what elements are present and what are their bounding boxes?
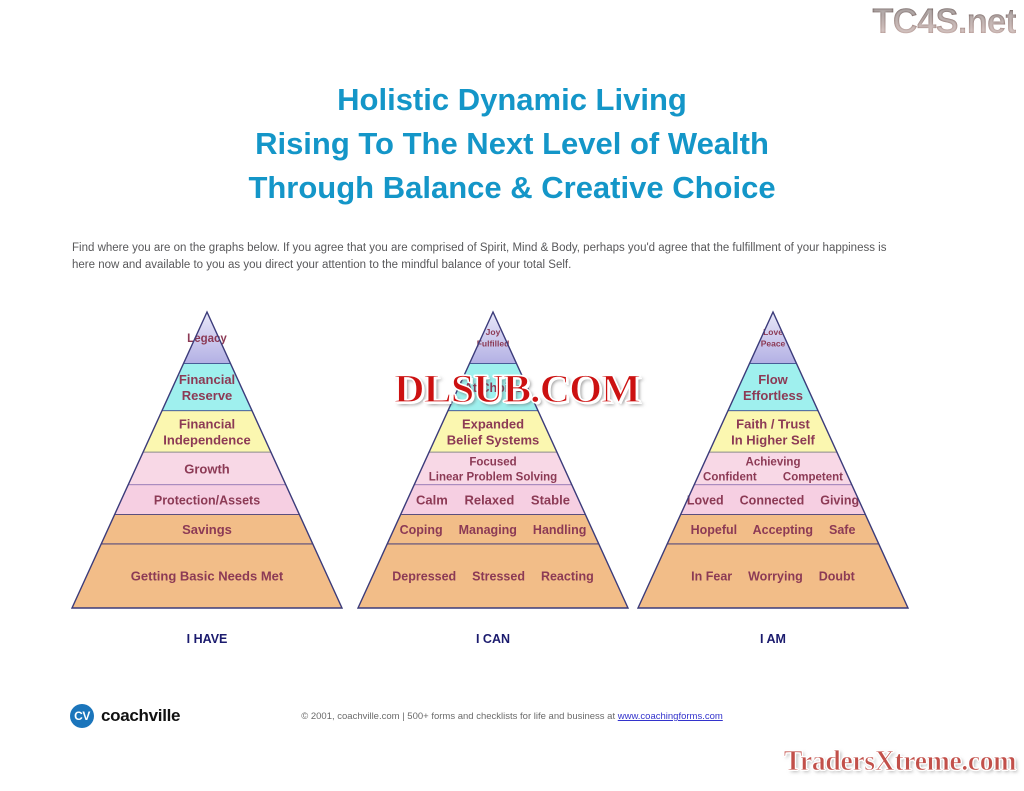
- coachingforms-link[interactable]: www.coachingforms.com: [618, 711, 723, 722]
- pyramid-band-label: Hopeful Accepting Safe: [691, 523, 856, 537]
- pyramid-band-label: Joy: [486, 327, 501, 337]
- pyramid-band-label: In Higher Self: [731, 433, 815, 448]
- copyright-text: © 2001, coachville.com | 500+ forms and …: [301, 711, 618, 722]
- pyramid-band-label: Effortless: [743, 388, 803, 403]
- pyramid-band-label: Confident Competent: [703, 471, 843, 483]
- pyramid-band-label: Loved Connected Giving: [687, 493, 859, 507]
- pyramid-band-label: Expanded: [462, 416, 524, 431]
- pyramid-band-label: Financial: [179, 372, 235, 387]
- pyramid-band-label: Protection/Assets: [154, 493, 260, 507]
- pyramid-band-label: Faith / Trust: [736, 416, 810, 431]
- pyramid-band-label: Focused: [469, 457, 516, 469]
- dlsub-watermark: DLSUB.COM: [363, 368, 670, 410]
- pyramid-band-label: Fulfilled: [477, 339, 510, 349]
- copyright-line: © 2001, coachville.com | 500+ forms and …: [0, 711, 1024, 722]
- pyramid-band-label: Achieving: [746, 457, 801, 469]
- pyramid-band-label: Savings: [182, 522, 232, 537]
- pyramid-band-label: Reserve: [182, 388, 233, 403]
- pyramid-band-label: Independence: [163, 433, 250, 448]
- pyramid-band-label: Flow: [758, 372, 788, 387]
- pyramid-label-i-am: I AM: [628, 632, 918, 646]
- pyramid-i-can: JoyFulfilledAt ChoiceExpandedBelief Syst…: [348, 305, 638, 615]
- pyramid-band-label: Getting Basic Needs Met: [131, 569, 284, 584]
- pyramid-i-have: LegacyFinancialReserveFinancialIndepende…: [62, 305, 352, 615]
- pyramid-band-label: Calm Relaxed Stable: [416, 493, 570, 508]
- pyramid-band-label: Growth: [184, 461, 230, 476]
- pyramid-band-label: Peace: [761, 339, 786, 349]
- pyramid-band-label: Depressed Stressed Reacting: [392, 570, 593, 584]
- pyramid-label-i-can: I CAN: [348, 632, 638, 646]
- pyramid-i-am: LovePeaceFlowEffortlessFaith / TrustIn H…: [628, 305, 918, 615]
- brand-tradersxtreme-logo: TradersXtreme.com: [784, 746, 1016, 778]
- pyramid-label-i-have: I HAVE: [62, 632, 352, 646]
- pyramid-band-label: In Fear Worrying Doubt: [691, 570, 855, 584]
- pyramid-band-label: Linear Problem Solving: [429, 471, 557, 483]
- pyramid-band-label: Belief Systems: [447, 433, 540, 448]
- pyramid-band-label: Financial: [179, 416, 235, 431]
- pyramid-band-label: Coping Managing Handling: [400, 523, 587, 537]
